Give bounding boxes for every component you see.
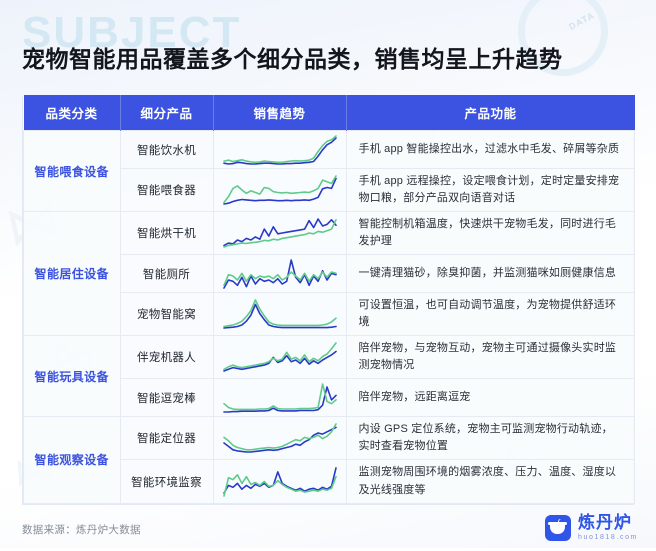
sales-trend-sparkline: [213, 417, 346, 460]
slide-canvas: SUBJECT DATA ⋈ ⋈ ⋈ ⋈ 宠物智能用品覆盖多个细分品类，销售均呈…: [0, 0, 656, 551]
product-function-cell: 陪伴宠物，与宠物互动，宠物主可通过摄像头实时监测宠物情况: [346, 336, 635, 379]
sales-trend-sparkline: [213, 460, 346, 503]
product-function-cell: 内设 GPS 定位系统，宠物主可监测宠物行动轨迹，实时查看宠物位置: [346, 417, 635, 460]
product-cell: 智能定位器: [120, 417, 213, 460]
product-function-cell: 智能控制机箱温度，快速烘干宠物毛发，同时进行毛发护理: [346, 212, 635, 255]
data-table-container: 品类分类 细分产品 销售趋势 产品功能 智能喂食设备智能饮水机手机 app 智能…: [22, 95, 634, 505]
sales-trend-sparkline: [213, 255, 346, 293]
sales-trend-sparkline: [213, 293, 346, 336]
table-header: 品类分类 细分产品 销售趋势 产品功能: [24, 95, 635, 131]
brand-name: 炼丹炉: [578, 514, 638, 531]
column-header-sales-trend: 销售趋势: [213, 95, 346, 131]
category-cell: 智能喂食设备: [24, 131, 121, 212]
sales-trend-sparkline: [213, 169, 346, 212]
column-header-category: 品类分类: [24, 95, 121, 131]
product-table: 品类分类 细分产品 销售趋势 产品功能 智能喂食设备智能饮水机手机 app 智能…: [23, 95, 635, 504]
page-title: 宠物智能用品覆盖多个细分品类，销售均呈上升趋势: [22, 40, 563, 74]
category-cell: 智能居住设备: [24, 212, 121, 336]
table-row: 智能玩具设备伴宠机器人陪伴宠物，与宠物互动，宠物主可通过摄像头实时监测宠物情况: [24, 336, 635, 379]
brand-logo[interactable]: 炼丹炉 huo1818.com: [545, 514, 638, 541]
product-cell: 智能烘干机: [120, 212, 213, 255]
furnace-icon: [545, 515, 571, 541]
brand-url: huo1818.com: [578, 534, 638, 541]
footer: 数据来源：炼丹炉大数据 炼丹炉 huo1818.com: [0, 509, 656, 551]
product-function-cell: 可设置恒温，也可自动调节温度，为宠物提供舒适环境: [346, 293, 635, 336]
column-header-product-function: 产品功能: [346, 95, 635, 131]
product-cell: 智能环境监察: [120, 460, 213, 503]
product-function-cell: 一键清理猫砂，除臭抑菌，并监测猫咪如厕健康信息: [346, 255, 635, 293]
product-cell: 智能饮水机: [120, 131, 213, 169]
table-body: 智能喂食设备智能饮水机手机 app 智能操控出水，过滤水中毛发、碎屑等杂质智能喂…: [24, 131, 635, 504]
product-cell: 智能喂食器: [120, 169, 213, 212]
category-cell: 智能玩具设备: [24, 336, 121, 417]
product-function-cell: 监测宠物周围环境的烟雾浓度、压力、温度、湿度以及光线强度等: [346, 460, 635, 503]
product-cell: 伴宠机器人: [120, 336, 213, 379]
product-cell: 智能厕所: [120, 255, 213, 293]
table-header-row: 品类分类 细分产品 销售趋势 产品功能: [24, 95, 635, 131]
product-function-cell: 手机 app 远程操控，设定喂食计划，定时定量安排宠物口粮，部分产品双向语音对话: [346, 169, 635, 212]
data-source-label: 数据来源：炼丹炉大数据: [22, 522, 141, 537]
category-cell: 智能观察设备: [24, 417, 121, 503]
sales-trend-sparkline: [213, 336, 346, 379]
column-header-product: 细分产品: [120, 95, 213, 131]
sales-trend-sparkline: [213, 131, 346, 169]
product-cell: 宠物智能窝: [120, 293, 213, 336]
table-row: 智能喂食设备智能饮水机手机 app 智能操控出水，过滤水中毛发、碎屑等杂质: [24, 131, 635, 169]
sales-trend-sparkline: [213, 212, 346, 255]
product-cell: 智能逗宠棒: [120, 379, 213, 417]
product-function-cell: 手机 app 智能操控出水，过滤水中毛发、碎屑等杂质: [346, 131, 635, 169]
product-function-cell: 陪伴宠物，远距离逗宠: [346, 379, 635, 417]
table-row: 智能居住设备智能烘干机智能控制机箱温度，快速烘干宠物毛发，同时进行毛发护理: [24, 212, 635, 255]
sales-trend-sparkline: [213, 379, 346, 417]
table-row: 智能观察设备智能定位器内设 GPS 定位系统，宠物主可监测宠物行动轨迹，实时查看…: [24, 417, 635, 460]
